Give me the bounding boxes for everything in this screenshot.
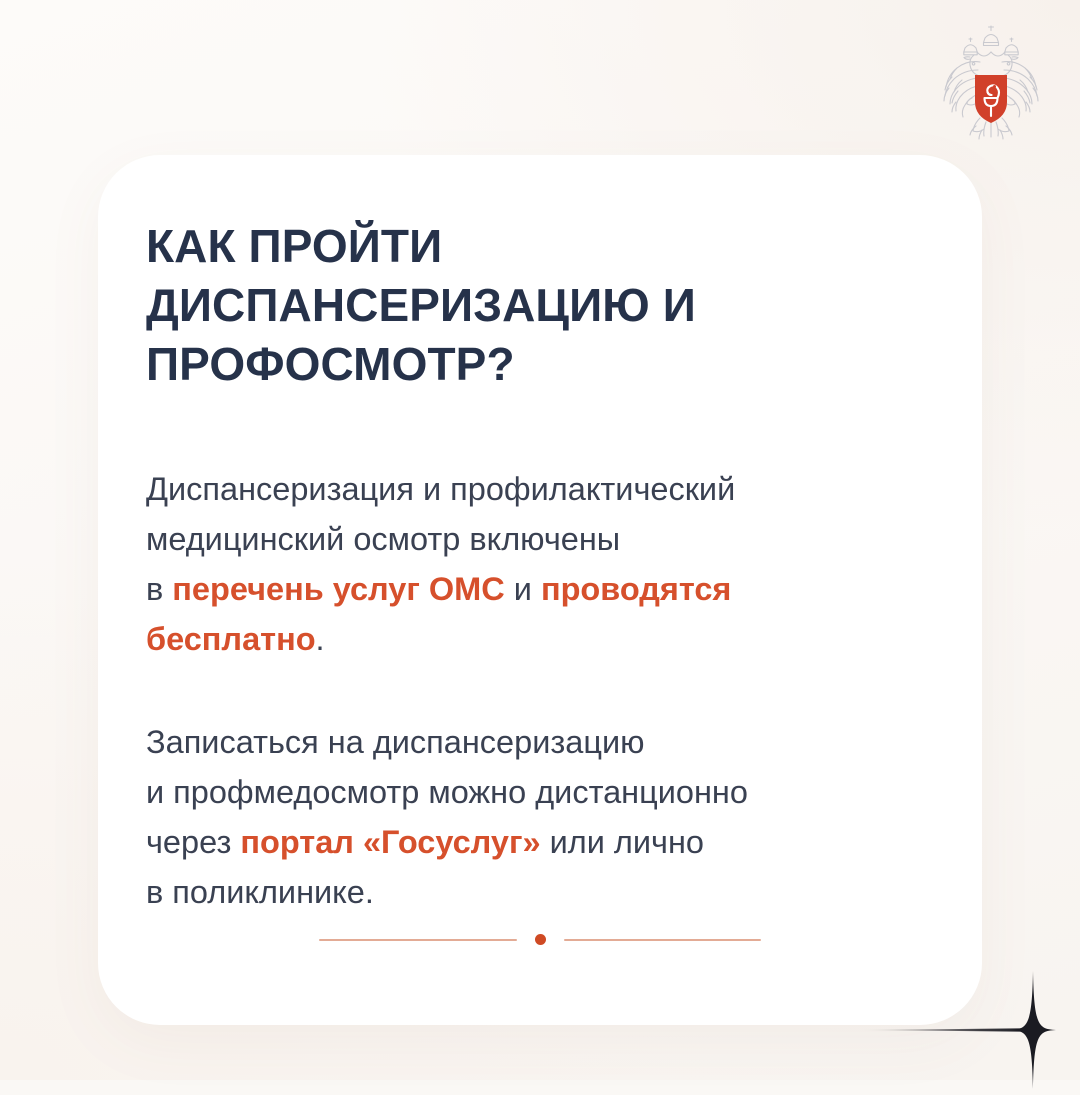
- plain-text: и: [505, 571, 541, 607]
- divider-dot: [535, 934, 546, 945]
- paragraph-booking-line-4: в поликлинике.: [146, 867, 942, 917]
- card-inner: КАК ПРОЙТИ ДИСПАНСЕРИЗАЦИЮ И ПРОФОСМОТР?…: [146, 217, 942, 917]
- divider-rule-left: [319, 939, 517, 941]
- highlighted-text: проводятся: [541, 571, 731, 607]
- plain-text: .: [316, 621, 325, 657]
- paragraph-oms-line-3: в перечень услуг ОМС и проводятся: [146, 564, 942, 614]
- plain-text: в: [146, 571, 172, 607]
- divider-rule-right: [564, 939, 762, 941]
- ministry-of-health-russia-emblem: [928, 18, 1054, 144]
- paragraph-oms-line-1: Диспансеризация и профилактический: [146, 464, 942, 514]
- highlighted-text: бесплатно: [146, 621, 316, 657]
- plain-text: в поликлинике.: [146, 874, 374, 910]
- plain-text: медицинский осмотр включены: [146, 521, 620, 557]
- highlighted-text: портал «Госуслуг»: [240, 824, 540, 860]
- paragraph-oms: Диспансеризация и профилактическиймедици…: [146, 464, 942, 664]
- paragraph-oms-line-2: медицинский осмотр включены: [146, 514, 942, 564]
- plain-text: через: [146, 824, 240, 860]
- paragraph-booking: Записаться на диспансеризациюи профмедос…: [146, 717, 942, 917]
- body-text: Диспансеризация и профилактическиймедици…: [146, 464, 942, 917]
- paragraph-oms-line-4: бесплатно.: [146, 614, 942, 664]
- page-title: КАК ПРОЙТИ ДИСПАНСЕРИЗАЦИЮ И ПРОФОСМОТР?: [146, 217, 942, 394]
- plain-text: или лично: [541, 824, 704, 860]
- paragraph-booking-line-1: Записаться на диспансеризацию: [146, 717, 942, 767]
- plain-text: Записаться на диспансеризацию: [146, 724, 644, 760]
- decorative-divider: [319, 934, 761, 945]
- paragraph-booking-line-3: через портал «Госуслуг» или лично: [146, 817, 942, 867]
- plain-text: Диспансеризация и профилактический: [146, 471, 735, 507]
- highlighted-text: перечень услуг ОМС: [172, 571, 504, 607]
- plain-text: и профмедосмотр можно дистанционно: [146, 774, 748, 810]
- content-card: КАК ПРОЙТИ ДИСПАНСЕРИЗАЦИЮ И ПРОФОСМОТР?…: [98, 155, 982, 1025]
- paragraph-booking-line-2: и профмедосмотр можно дистанционно: [146, 767, 942, 817]
